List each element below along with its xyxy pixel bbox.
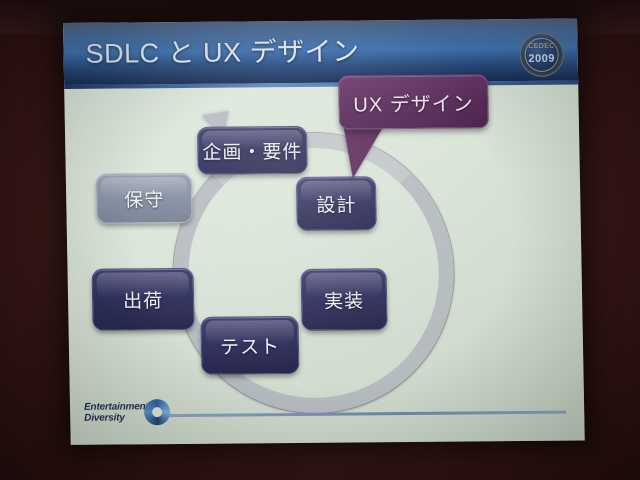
brand-logo: Entertainment Diversity [84,400,175,429]
page-title: SDLC と UX デザイン [85,29,360,70]
logo-name: CEDEC [520,43,562,50]
callout-label: UX デザイン [353,87,474,117]
callout-tail-icon [343,122,387,178]
projection-screen: SDLC と UX デザイン CEDEC 2009 企画・要件 設計 実装 [63,19,585,445]
brand-swirl-icon [144,399,170,425]
cycle-node-plan[interactable]: 企画・要件 [197,126,308,175]
brand-line-1: Entertainment [84,401,149,413]
cycle-node-maintenance[interactable]: 保守 [96,173,193,224]
slide-surface: SDLC と UX デザイン CEDEC 2009 企画・要件 設計 実装 [63,19,585,445]
cycle-node-label: 企画・要件 [202,136,303,164]
cycle-node-label: 保守 [124,185,165,212]
brand-line-2: Diversity [84,412,125,423]
photographed-slide-scene: SDLC と UX デザイン CEDEC 2009 企画・要件 設計 実装 [0,0,640,480]
cycle-node-implementation[interactable]: 実装 [301,268,388,331]
cycle-node-label: 出荷 [123,286,164,313]
cycle-node-label: 設計 [316,190,357,217]
cycle-node-test[interactable]: テスト [200,316,299,375]
cycle-node-label: 実装 [324,286,365,313]
ux-design-callout: UX デザイン [338,74,489,129]
cycle-node-label: テスト [220,332,281,360]
cedec-logo: CEDEC 2009 [519,33,564,77]
logo-year: 2009 [521,53,563,65]
cycle-node-shipping[interactable]: 出荷 [92,268,195,331]
cycle-node-design[interactable]: 設計 [296,176,377,231]
footer-divider [162,411,566,418]
